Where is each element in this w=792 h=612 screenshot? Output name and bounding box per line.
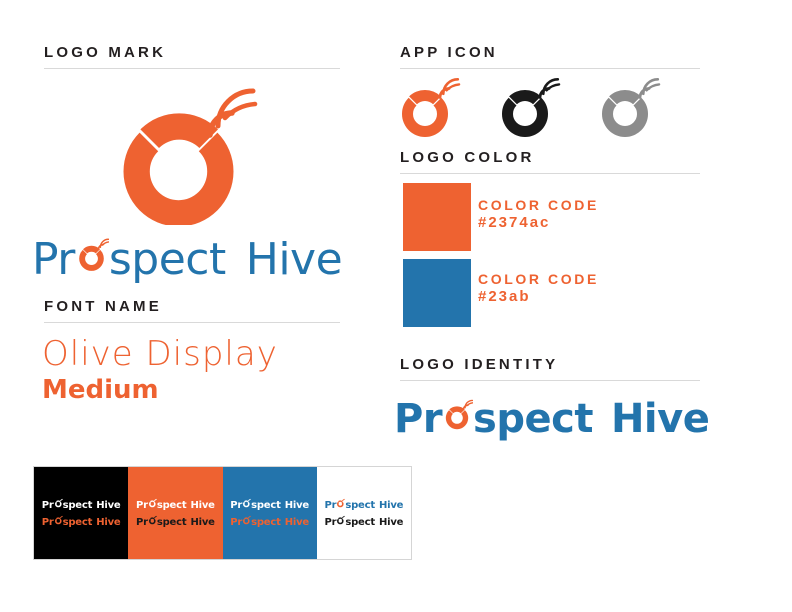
swatch-orange-label: COLOR CODE xyxy=(478,195,599,216)
app-icon-black[interactable] xyxy=(496,78,566,140)
divider-logo-identity xyxy=(400,380,700,381)
mini-prefix: Pr xyxy=(136,516,148,529)
wordmark-second-word: Hive xyxy=(246,234,342,285)
section-title-app-icon: APP ICON xyxy=(400,44,498,61)
logo-ring-wifi-icon xyxy=(336,514,345,529)
mini-second: Hive xyxy=(379,516,403,529)
swatch-blue-label: COLOR CODE xyxy=(478,269,599,290)
swatch-orange-code: #2374ac xyxy=(478,214,550,231)
panel-white[interactable]: PrspectHive PrspectHive xyxy=(317,467,411,559)
logo-ring-wifi-icon xyxy=(54,497,63,512)
wordmark-suffix: spect xyxy=(109,234,226,285)
logo-ring-wifi-icon xyxy=(442,392,473,432)
mini-prefix: Pr xyxy=(136,499,148,512)
panel-orange[interactable]: PrspectHive PrspectHive xyxy=(128,467,222,559)
wordmark-identity-prefix: Pr xyxy=(394,396,442,442)
color-variation-strip: PrspectHive PrspectHive PrspectHive Prsp… xyxy=(33,466,412,560)
mini-suffix: spect xyxy=(251,516,281,529)
wordmark-identity-second-word: Hive xyxy=(611,396,709,442)
mini-second: Hive xyxy=(379,499,403,512)
section-title-font-name: FONT NAME xyxy=(44,298,162,315)
mini-prefix: Pr xyxy=(42,499,54,512)
mini-suffix: spect xyxy=(251,499,281,512)
logo-ring-wifi-icon xyxy=(336,497,345,512)
mini-wordmark: PrspectHive xyxy=(136,514,215,529)
divider-logo-color xyxy=(400,173,700,174)
mini-suffix: spect xyxy=(157,499,187,512)
mini-prefix: Pr xyxy=(42,516,54,529)
logo-mark-large xyxy=(110,75,265,225)
panel-blue[interactable]: PrspectHive PrspectHive xyxy=(223,467,317,559)
mini-prefix: Pr xyxy=(324,499,336,512)
mini-suffix: spect xyxy=(157,516,187,529)
mini-prefix: Pr xyxy=(324,516,336,529)
mini-suffix: spect xyxy=(63,516,93,529)
wordmark-identity-suffix: spect xyxy=(473,396,593,442)
app-icon-gray[interactable] xyxy=(596,78,666,140)
divider-app-icon xyxy=(400,68,700,69)
swatch-blue[interactable] xyxy=(403,259,471,327)
mini-wordmark: PrspectHive xyxy=(136,497,215,512)
mini-prefix: Pr xyxy=(230,499,242,512)
swatch-orange[interactable] xyxy=(403,183,471,251)
section-title-logo-mark: LOGO MARK xyxy=(44,44,166,61)
mini-suffix: spect xyxy=(345,499,375,512)
wordmark-identity: Pr spectHive xyxy=(394,392,709,442)
divider-logo-mark xyxy=(44,68,340,69)
mini-wordmark: PrspectHive xyxy=(230,514,309,529)
mini-second: Hive xyxy=(96,499,120,512)
panel-black[interactable]: PrspectHive PrspectHive xyxy=(34,467,128,559)
mini-wordmark: PrspectHive xyxy=(324,497,403,512)
mini-suffix: spect xyxy=(345,516,375,529)
logo-ring-wifi-icon xyxy=(148,497,157,512)
mini-second: Hive xyxy=(190,499,214,512)
brand-guideline-page: LOGO MARK Pr xyxy=(0,0,792,612)
mini-wordmark: PrspectHive xyxy=(42,514,121,529)
mini-wordmark: PrspectHive xyxy=(324,514,403,529)
section-title-logo-identity: LOGO IDENTITY xyxy=(400,356,558,373)
font-family-name: Olive Display xyxy=(42,334,278,374)
mini-second: Hive xyxy=(96,516,120,529)
swatch-blue-code: #23ab xyxy=(478,288,531,305)
mini-wordmark: PrspectHive xyxy=(230,497,309,512)
mini-suffix: spect xyxy=(63,499,93,512)
mini-second: Hive xyxy=(285,499,309,512)
mini-prefix: Pr xyxy=(230,516,242,529)
logo-ring-wifi-icon xyxy=(75,230,109,274)
app-icon-orange[interactable] xyxy=(396,78,466,140)
logo-ring-wifi-icon xyxy=(148,514,157,529)
wordmark-primary: Pr spectHive xyxy=(32,230,342,285)
mini-wordmark: PrspectHive xyxy=(42,497,121,512)
mini-second: Hive xyxy=(285,516,309,529)
divider-font-name xyxy=(44,322,340,323)
logo-ring-wifi-icon xyxy=(242,514,251,529)
font-weight-name: Medium xyxy=(42,375,159,405)
wordmark-prefix: Pr xyxy=(32,234,75,285)
section-title-logo-color: LOGO COLOR xyxy=(400,149,535,166)
mini-second: Hive xyxy=(190,516,214,529)
logo-ring-wifi-icon xyxy=(54,514,63,529)
logo-ring-wifi-icon xyxy=(242,497,251,512)
